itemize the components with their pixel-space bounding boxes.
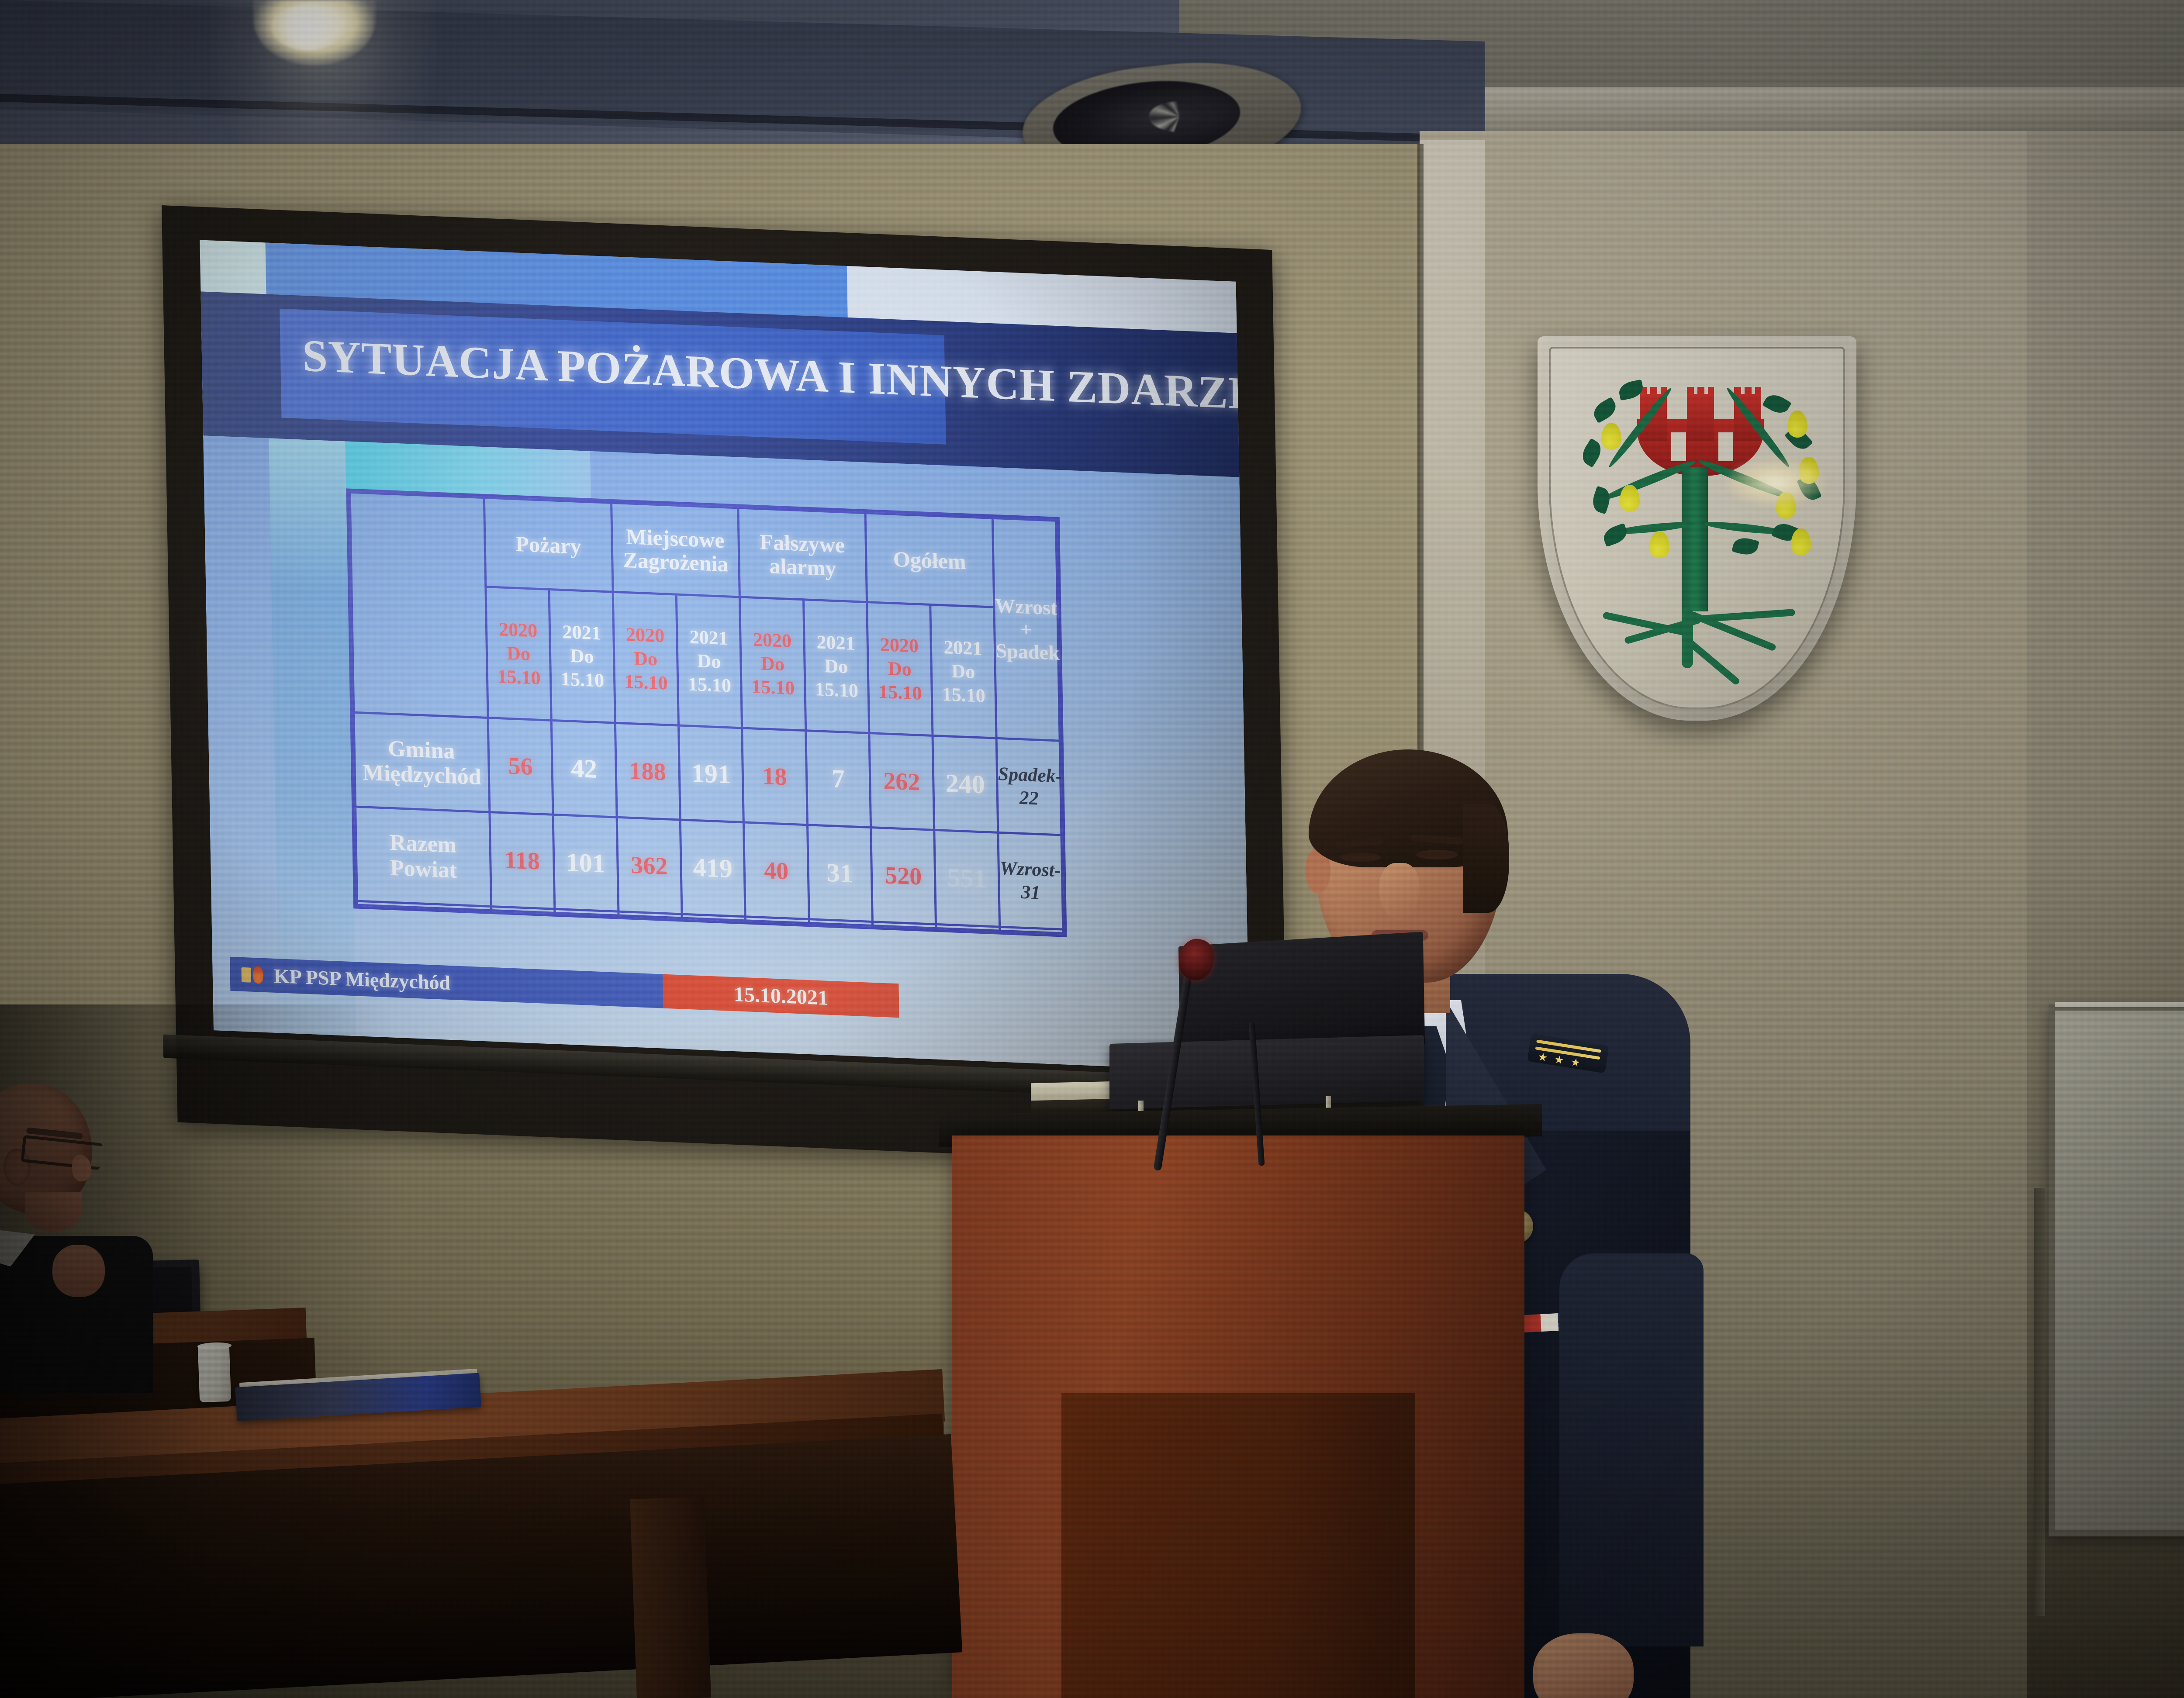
subhead-mz-2021: 2021 Do 15.10: [676, 594, 742, 728]
speaker-eye-right: [1416, 850, 1458, 859]
cell-r1-delta: Wzrost- 31: [998, 832, 1063, 929]
row-label-gmina-miedzychod: Gmina Międzychód: [354, 713, 490, 812]
cell-r1-c0: 118: [490, 812, 555, 909]
coat-of-arms-glare: [1725, 459, 1826, 507]
subhead-fa-2021: 2021 Do 15.10: [803, 600, 869, 733]
lectern-base: [1061, 1393, 1415, 1698]
cell-r0-c7: 240: [933, 736, 998, 833]
castle-gap-left: [1671, 432, 1686, 461]
subhead-ogolem-2020: 2020 Do 15.10: [867, 602, 933, 736]
subhead-pozary-2021: 2021 Do 15.10: [549, 590, 615, 723]
slide-footer-org: KP PSP Międzychód: [273, 964, 450, 994]
speaker-hand: [1533, 1633, 1634, 1698]
cell-r1-c3: 419: [680, 820, 745, 917]
psp-flame-icon: [241, 964, 264, 986]
col-group-ogolem: Ogółem: [865, 513, 994, 607]
presenter-laptop[interactable]: [1109, 1035, 1424, 1109]
pear-tree-trunk: [1682, 467, 1708, 611]
whiteboard: [2018, 1004, 2184, 1616]
projection-screen: SYTUACJA POŻAROWA I INNYCH ZDARZEŃ Pożar…: [162, 205, 1288, 1167]
cell-r0-delta: Spadek- 22: [996, 739, 1061, 835]
col-group-pozary: Pożary: [484, 498, 613, 592]
cell-r0-c6: 262: [869, 733, 934, 830]
castle-tower-center: [1687, 394, 1714, 441]
slide-accent-band: [269, 438, 356, 1036]
slide-date-text: 15.10.2021: [733, 982, 828, 1010]
cell-r0-c0: 56: [488, 718, 553, 815]
table-corner-cell: [350, 492, 488, 718]
col-group-miejscowe-zagrozenia: Miejscowe Zagrożenia: [611, 503, 740, 597]
cell-r0-c1: 42: [551, 721, 616, 818]
speaker-eye-left: [1340, 852, 1380, 862]
cell-r1-c5: 31: [807, 825, 872, 922]
attendee-hand: [52, 1245, 105, 1297]
speaker-arm-right: [1559, 1253, 1704, 1646]
conference-hall-photo: SYTUACJA POŻAROWA I INNYCH ZDARZEŃ Pożar…: [0, 0, 2184, 1698]
cell-r0-c3: 191: [678, 725, 743, 822]
castle-gap-right: [1718, 432, 1733, 461]
cell-r0-c4: 18: [742, 728, 807, 825]
subhead-pozary-2020: 2020 Do 15.10: [486, 587, 552, 721]
cell-r1-c4: 40: [744, 822, 809, 919]
cell-r1-c7: 551: [934, 830, 999, 927]
row-label-razem-powiat: Razem Powiat: [356, 807, 491, 906]
presentation-slide: SYTUACJA POŻAROWA I INNYCH ZDARZEŃ Pożar…: [200, 240, 1250, 1072]
whiteboard-top-edge: [2055, 1002, 2184, 1007]
miedzychod-coat-of-arms: [1538, 336, 1856, 721]
whiteboard-stand-leg: [2034, 1188, 2045, 1616]
cell-r1-c6: 520: [871, 828, 936, 925]
speaker-hair-side: [1463, 804, 1509, 913]
subhead-ogolem-2021: 2021 Do 15.10: [930, 605, 996, 739]
whiteboard-surface: [2049, 1004, 2184, 1536]
spotlight-core: [271, 4, 345, 50]
col-group-falszywe-alarmy: Fałszywe alarmy: [738, 508, 867, 602]
statistics-table: Pożary Miejscowe Zagrożenia Fałszywe ala…: [346, 488, 1067, 937]
subhead-mz-2020: 2020 Do 15.10: [613, 592, 679, 726]
tree-root: [1682, 607, 1693, 668]
cell-r0-c5: 7: [805, 731, 871, 828]
subhead-fa-2020: 2020 Do 15.10: [740, 597, 806, 731]
col-group-wzrost-spadek: Wzrost + Spadek: [992, 518, 1060, 741]
diffuser-vanes: [1149, 101, 1210, 132]
front-table-leg: [630, 1497, 711, 1698]
cell-r0-c2: 188: [615, 723, 680, 820]
cell-r1-c1: 101: [553, 814, 618, 911]
attendee-chin: [25, 1192, 82, 1232]
seated-attendee-person: [0, 1083, 157, 1389]
disposable-cup[interactable]: [198, 1345, 231, 1402]
cell-r1-c2: 362: [617, 817, 682, 914]
speaker-nose: [1379, 863, 1420, 920]
